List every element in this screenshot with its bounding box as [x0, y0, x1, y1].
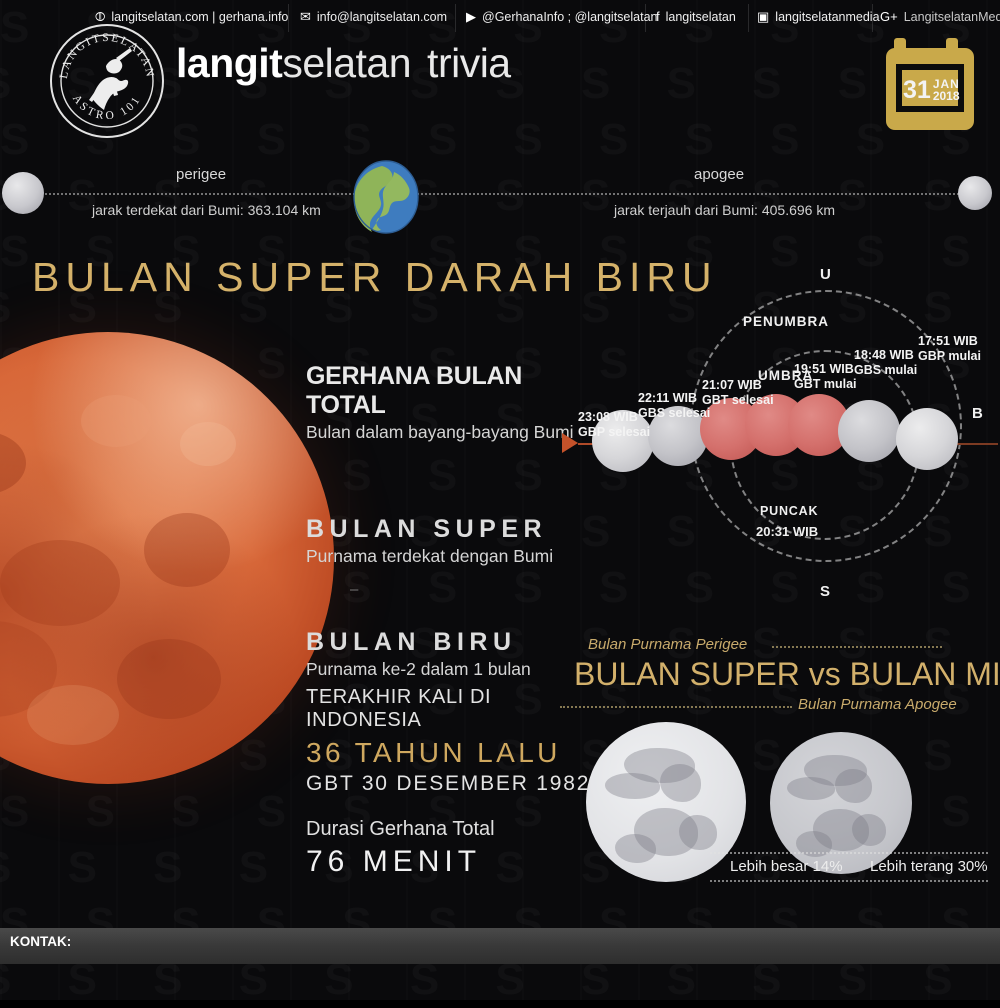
perigee-moon-icon [2, 172, 44, 214]
phase-label-gbt-mulai: 19:51 WIBGBT mulai [794, 362, 857, 392]
compare-title: BULAN SUPER vs BULAN MINI [574, 656, 1000, 693]
caption-brighter: Lebih terang 30% [870, 858, 988, 875]
calendar-month: JAN [933, 78, 960, 90]
footer-divider [645, 4, 646, 32]
moon-phase-gbp-mulai [896, 408, 958, 470]
apogee-caption-rule [560, 706, 792, 708]
moon-phase-gbs-mulai [838, 400, 900, 462]
rss-icon: ⦷ [95, 9, 105, 25]
earth-globe-icon [352, 160, 420, 234]
svg-text:LANGITSELATAN: LANGITSELATAN [58, 32, 156, 80]
perigee-caption-rule [772, 646, 942, 648]
envelope-icon: ✉ [300, 9, 311, 25]
last-occurrence-line3: GBT 30 DESEMBER 1982 [306, 772, 606, 796]
comparison-caption-rule-top [710, 852, 988, 854]
apogee-caption: Bulan Purnama Apogee [798, 696, 957, 713]
supermoon-disc [586, 722, 746, 882]
duration-label: Durasi Gerhana Total [306, 818, 495, 841]
footer-link-label: @GerhanaInfo ; @langitselatan [482, 10, 657, 24]
apogee-distance-text: jarak terjauh dari Bumi: 405.696 km [614, 202, 835, 218]
axis-label-east: B [972, 405, 983, 422]
apogee-label: apogee [694, 166, 744, 183]
phase-label-gbt-selesai: 21:07 WIBGBT selesai [702, 378, 774, 408]
duration-value: 76 MENIT [306, 845, 495, 879]
duration-block: Durasi Gerhana Total 76 MENIT [306, 818, 495, 879]
fact-heading: BULAN BIRU [306, 628, 596, 657]
footer-divider [872, 4, 873, 32]
axis-label-south: S [820, 583, 830, 600]
perigee-distance-text: jarak terdekat dari Bumi: 363.104 km [92, 202, 321, 218]
perigee-label: perigee [176, 166, 226, 183]
axis-label-north: U [820, 266, 831, 283]
distance-axis-line [22, 193, 978, 195]
calendar-day: 31 [903, 78, 931, 102]
contact-label: KONTAK: [10, 934, 71, 949]
facebook-icon: f [656, 9, 660, 24]
brand-name-light: selatan [282, 40, 411, 86]
calendar-icon: 31 JAN 2018 [884, 34, 976, 134]
brand-name-bold: langit [176, 40, 282, 86]
twitter-icon: ▶ [466, 9, 476, 25]
moon-path-arrow [562, 433, 578, 453]
footer-link-label: langitselatanmedia [775, 10, 879, 24]
perigee-caption: Bulan Purnama Perigee [588, 636, 747, 653]
langitselatan-logo: LANGITSELATAN ASTRO 101 [48, 22, 166, 140]
footer-divider [455, 4, 456, 32]
footer-divider [288, 4, 289, 32]
calendar-year: 2018 [933, 90, 960, 103]
blood-moon-photo [0, 332, 334, 784]
apogee-moon-icon [958, 176, 992, 210]
phase-label-gbs-selesai: 22:11 WIBGBS selesai [638, 391, 710, 421]
footer-link-facebook[interactable]: f langitselatan [656, 9, 736, 24]
penumbra-label: PENUMBRA [743, 314, 829, 329]
comparison-caption-rule-bottom [710, 880, 988, 882]
phase-label-gbs-mulai: 18:48 WIBGBS mulai [854, 348, 917, 378]
phase-label-gbp-mulai: 17:51 WIBGBP mulai [918, 334, 981, 364]
footer-link-label: info@langitselatan.com [317, 10, 447, 24]
moon-size-comparison: Lebih besar 14% Lebih terang 30% [570, 718, 990, 898]
google-plus-icon: G+ [880, 9, 898, 24]
footer-link-googleplus[interactable]: G+ LangitselatanMedia [880, 9, 1000, 24]
peak-label: PUNCAK [760, 504, 818, 518]
footer-link-email[interactable]: ✉ info@langitselatan.com [300, 9, 447, 25]
contact-footer-bar [0, 928, 1000, 964]
fact-bluemoon: BULAN BIRU Purnama ke-2 dalam 1 bulan [306, 628, 596, 680]
footer-link-twitter[interactable]: ▶ @GerhanaInfo ; @langitselatan [466, 9, 657, 25]
footer-divider [748, 4, 749, 32]
footer-link-instagram[interactable]: ▣ langitselatanmedia [757, 9, 880, 25]
instagram-icon: ▣ [757, 9, 769, 25]
brand-title: langitselatantrivia [176, 40, 511, 86]
perigee-apogee-band: perigee jarak terdekat dari Bumi: 363.10… [0, 150, 1000, 240]
fact-subtext: Purnama ke-2 dalam 1 bulan [306, 659, 596, 680]
peak-time: 20:31 WIB [756, 524, 818, 539]
eclipse-path-diagram: U S T B PENUMBRA UMBRA 23:08 WIBGBP sele… [540, 268, 1000, 618]
footer-link-website[interactable]: ⦷ langitselatan.com | gerhana.info [95, 9, 288, 25]
footer-link-label: langitselatan [666, 10, 736, 24]
footer-link-label: langitselatan.com | gerhana.info [111, 10, 288, 24]
brand-suffix: trivia [427, 40, 511, 86]
caption-bigger: Lebih besar 14% [730, 858, 843, 875]
footer-link-label: LangitselatanMedia [904, 10, 1000, 24]
